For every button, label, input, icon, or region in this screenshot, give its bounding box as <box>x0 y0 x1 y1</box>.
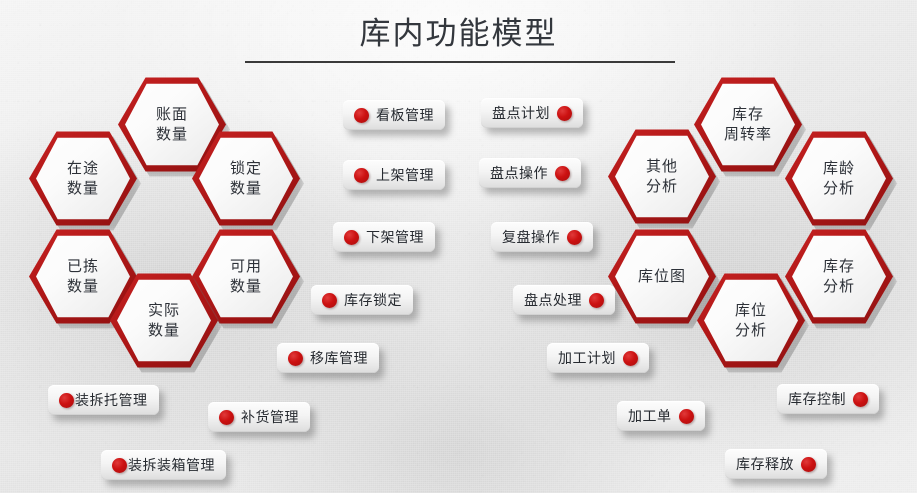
hexagon-node[interactable]: 在途 数量 <box>29 130 137 227</box>
bullet-dot-icon <box>853 392 868 407</box>
pill-label: 盘点操作 <box>490 165 548 181</box>
function-pill[interactable]: 复盘操作 <box>491 222 593 252</box>
pill-label: 装拆托管理 <box>75 392 148 408</box>
function-pill[interactable]: 看板管理 <box>343 100 445 130</box>
page-title: 库内功能模型 <box>360 14 558 54</box>
pill-label: 移库管理 <box>310 350 368 366</box>
hexagon-node[interactable]: 其他 分析 <box>608 128 716 225</box>
function-pill[interactable]: 加工单 <box>617 401 705 431</box>
pill-label: 库存释放 <box>736 456 794 472</box>
hexagon-node[interactable]: 实际 数量 <box>110 272 218 369</box>
function-pill[interactable]: 补货管理 <box>208 402 310 432</box>
pill-label: 库存锁定 <box>344 292 402 308</box>
function-pill[interactable]: 盘点操作 <box>479 158 581 188</box>
function-pill[interactable]: 库存锁定 <box>311 285 413 315</box>
function-pill[interactable]: 盘点处理 <box>513 285 615 315</box>
pill-label: 上架管理 <box>376 167 434 183</box>
pill-label: 盘点计划 <box>492 105 550 121</box>
function-pill[interactable]: 盘点计划 <box>481 98 583 128</box>
function-pill[interactable]: 库存释放 <box>725 449 827 479</box>
pill-label: 复盘操作 <box>502 229 560 245</box>
function-pill[interactable]: 下架管理 <box>333 222 435 252</box>
pill-label: 下架管理 <box>366 229 424 245</box>
bullet-dot-icon <box>555 166 570 181</box>
function-pill[interactable]: 移库管理 <box>277 343 379 373</box>
pill-label: 盘点处理 <box>524 292 582 308</box>
hexagon-node[interactable]: 库龄 分析 <box>785 130 893 227</box>
hexagon-node[interactable]: 库位 分析 <box>697 272 805 369</box>
hexagon-label: 库位 分析 <box>697 272 805 369</box>
diagram-canvas: 库内功能模型 账面 数量在途 数量锁定 数量已拣 数量可用 数量实际 数量库存 … <box>0 0 917 493</box>
function-pill[interactable]: 装拆装箱管理 <box>101 450 226 480</box>
bullet-dot-icon <box>623 351 638 366</box>
pill-label: 补货管理 <box>241 409 299 425</box>
bullet-dot-icon <box>679 409 694 424</box>
pill-label: 加工单 <box>628 408 672 424</box>
function-pill[interactable]: 装拆托管理 <box>48 385 159 415</box>
pill-label: 装拆装箱管理 <box>128 457 215 473</box>
bullet-dot-icon <box>354 108 369 123</box>
bullet-dot-icon <box>354 168 369 183</box>
bullet-dot-icon <box>59 393 74 408</box>
bullet-dot-icon <box>344 230 359 245</box>
bullet-dot-icon <box>589 293 604 308</box>
hexagon-label: 在途 数量 <box>29 130 137 227</box>
bullet-dot-icon <box>801 457 816 472</box>
hexagon-label: 锁定 数量 <box>192 130 300 227</box>
pill-label: 库存控制 <box>788 391 846 407</box>
bullet-dot-icon <box>219 410 234 425</box>
bullet-dot-icon <box>322 293 337 308</box>
bullet-dot-icon <box>112 458 127 473</box>
page-title-block: 库内功能模型 <box>0 14 917 54</box>
function-pill[interactable]: 加工计划 <box>547 343 649 373</box>
pill-label: 看板管理 <box>376 107 434 123</box>
hexagon-label: 其他 分析 <box>608 128 716 225</box>
pill-label: 加工计划 <box>558 350 616 366</box>
bullet-dot-icon <box>567 230 582 245</box>
hexagon-label: 实际 数量 <box>110 272 218 369</box>
bullet-dot-icon <box>288 351 303 366</box>
function-pill[interactable]: 上架管理 <box>343 160 445 190</box>
bullet-dot-icon <box>557 106 572 121</box>
hexagon-label: 库龄 分析 <box>785 130 893 227</box>
hexagon-node[interactable]: 锁定 数量 <box>192 130 300 227</box>
function-pill[interactable]: 库存控制 <box>777 384 879 414</box>
title-underline <box>245 61 675 63</box>
